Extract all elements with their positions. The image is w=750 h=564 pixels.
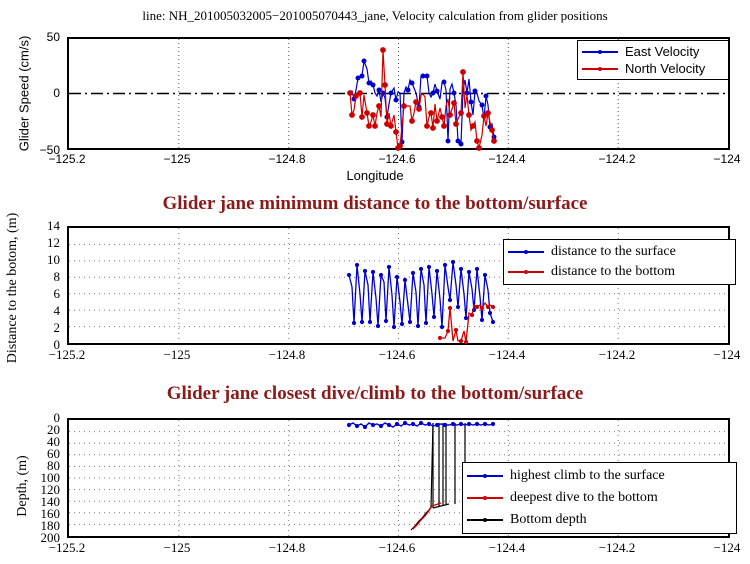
velocity-x-axis-label: Longitude [0,168,750,183]
min-distance-xtick-5: −124.2 [582,347,652,363]
depth-xtick-4: −124.4 [472,540,542,556]
velocity-plot-title: line: NH_201005032005−201005070443_jane,… [0,8,750,24]
legend-item-deepest-dive: deepest dive to the bottom [467,487,731,509]
depth-xtick-1: −125 [142,540,212,556]
figure-canvas: line: NH_201005032005−201005070443_jane,… [0,0,750,564]
highest-climb-swatch-icon [467,475,503,477]
legend-item-highest-climb: highest climb to the surface [467,465,731,487]
min-distance-xtick-4: −124.4 [472,347,542,363]
depth-plot-title: Glider jane closest dive/climb to the bo… [0,383,750,405]
bottom-swatch-icon [508,271,544,273]
legend-item-east-velocity: East Velocity [582,43,723,60]
velocity-xtick-0: −125.2 [32,152,102,166]
min-distance-ytick-6: 6 [30,286,60,302]
east-velocity-swatch-icon [582,51,618,53]
min-distance-xtick-0: −125.2 [32,347,102,363]
legend-label-highest-climb: highest climb to the surface [510,468,665,484]
legend-item-north-velocity: North Velocity [582,60,723,77]
north-velocity-swatch-icon [582,68,618,70]
legend-label-north-velocity: North Velocity [625,61,705,76]
velocity-xtick-6: −124 [692,152,750,166]
min-distance-plot-title: Glider jane minimum distance to the bott… [0,193,750,215]
deepest-dive-swatch-icon [467,497,503,499]
velocity-ytick-0: 0 [28,86,60,100]
bottom-depth-swatch-icon [467,519,503,521]
depth-xtick-6: −124 [692,540,750,556]
depth-legend: highest climb to the surface deepest div… [462,462,737,534]
depth-xtick-3: −124.6 [362,540,432,556]
min-distance-legend: distance to the surface distance to the … [503,239,736,285]
min-distance-xtick-2: −124.8 [252,347,322,363]
depth-xtick-2: −124.8 [252,540,322,556]
legend-item-bottom-depth: Bottom depth [467,509,731,531]
min-distance-xtick-1: −125 [142,347,212,363]
min-distance-xtick-3: −124.6 [362,347,432,363]
bottom-depth-trace [411,423,465,530]
min-distance-ytick-10: 10 [30,252,60,268]
min-distance-xtick-6: −124 [692,347,750,363]
min-distance-y-axis-label: Distance to the botom, (m) [5,193,21,383]
legend-label-distance-bottom: distance to the bottom [551,264,675,280]
velocity-xtick-2: −124.8 [252,152,322,166]
legend-label-east-velocity: East Velocity [625,44,699,59]
legend-label-bottom-depth: Bottom depth [510,512,587,528]
min-distance-ytick-2: 2 [30,320,60,336]
east-velocity-trace [348,59,496,146]
min-distance-ytick-4: 4 [30,303,60,319]
legend-label-deepest-dive: deepest dive to the bottom [510,490,658,506]
legend-item-distance-bottom: distance to the bottom [508,262,730,282]
velocity-xtick-4: −124.4 [472,152,542,166]
min-distance-ytick-12: 12 [30,235,60,251]
legend-item-distance-surface: distance to the surface [508,242,730,262]
velocity-legend: East Velocity North Velocity [577,40,729,80]
depth-xtick-5: −124.2 [582,540,652,556]
legend-label-distance-surface: distance to the surface [551,244,676,260]
depth-xtick-0: −125.2 [32,540,102,556]
distance-to-surface-trace [347,260,494,328]
velocity-xtick-1: −125 [142,152,212,166]
velocity-xtick-3: −124.6 [362,152,432,166]
velocity-ytick-50: 50 [28,30,60,44]
min-distance-ytick-14: 14 [30,218,60,234]
min-distance-ytick-8: 8 [30,269,60,285]
surface-swatch-icon [508,251,544,253]
highest-climb-trace [347,421,494,428]
velocity-xtick-5: −124.2 [582,152,652,166]
